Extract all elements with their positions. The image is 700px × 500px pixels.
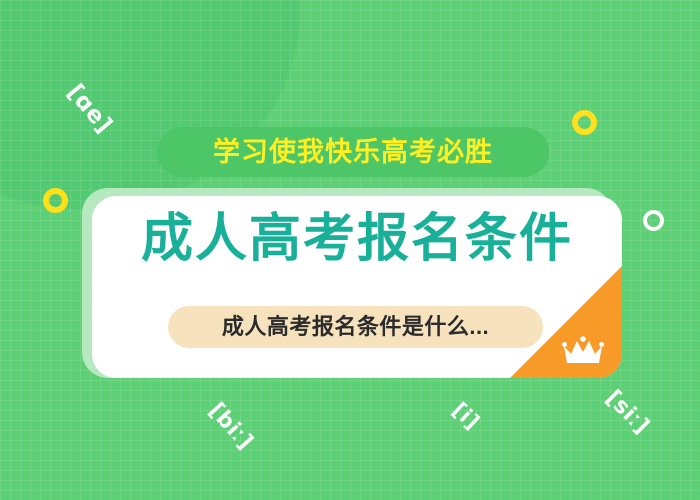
background-blob [0,0,300,210]
page-title: 成人高考报名条件 [92,210,622,270]
white-ring-right-icon [643,210,664,231]
poster-canvas: [ɑe] [biː] [i] [siː] 学习使我快乐高考必胜 成人高考报名条件… [0,0,700,500]
slogan-banner: 学习使我快乐高考必胜 [157,127,549,177]
yellow-ring-right-icon [572,110,597,135]
phonetic-decoration-bi: [biː] [204,398,258,454]
subtitle-pill: 成人高考报名条件是什么... [168,306,543,348]
slogan-text: 学习使我快乐高考必胜 [213,139,493,166]
main-card: 成人高考报名条件 成人高考报名条件是什么... [92,196,622,378]
phonetic-decoration-si: [siː] [601,386,655,440]
crown-icon [562,336,604,366]
yellow-ring-left-icon [43,188,68,213]
subtitle-text: 成人高考报名条件是什么... [222,316,489,338]
phonetic-decoration-i: [i] [448,398,485,435]
